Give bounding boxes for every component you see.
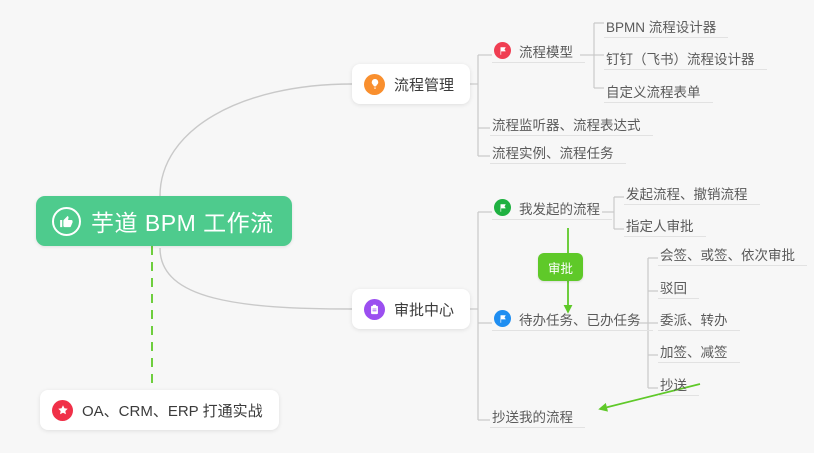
thumbs-up-icon	[52, 207, 81, 236]
node-cc[interactable]: 抄送	[658, 366, 699, 396]
root-node[interactable]: 芋道 BPM 工作流	[36, 196, 292, 246]
node-dingtalk-feishu-designer[interactable]: 钉钉（飞书）流程设计器	[604, 40, 767, 70]
edge-root-to-approval-center	[160, 248, 352, 309]
root-label: 芋道 BPM 工作流	[91, 204, 274, 238]
flag-icon	[494, 42, 511, 59]
node-my-started-process[interactable]: 我发起的流程	[492, 190, 612, 220]
mindmap-canvas: 芋道 BPM 工作流 OA、CRM、ERP 打通实战 流程管理 流程模型	[0, 0, 814, 453]
node-process-instance-task[interactable]: 流程实例、流程任务	[490, 134, 626, 164]
node-assignee-approval-label: 指定人审批	[626, 220, 694, 234]
node-assignee-approval[interactable]: 指定人审批	[624, 207, 706, 237]
branch-process-management-label: 流程管理	[394, 74, 454, 95]
node-custom-process-form[interactable]: 自定义流程表单	[604, 73, 713, 103]
node-reject[interactable]: 驳回	[658, 269, 699, 299]
node-process-model[interactable]: 流程模型	[492, 33, 585, 63]
flag-icon	[494, 310, 511, 327]
node-process-model-label: 流程模型	[519, 46, 573, 60]
node-start-cancel-process-label: 发起流程、撤销流程	[626, 188, 748, 202]
node-todo-done-task[interactable]: 待办任务、已办任务	[492, 301, 653, 331]
node-bpmn-designer-label: BPMN 流程设计器	[606, 21, 716, 35]
node-cc-label: 抄送	[660, 379, 687, 393]
edge-root-to-process-management	[160, 84, 352, 196]
node-todo-done-task-label: 待办任务、已办任务	[519, 314, 641, 328]
approval-badge-label: 审批	[548, 258, 573, 277]
note-node[interactable]: OA、CRM、ERP 打通实战	[40, 390, 279, 430]
star-icon	[52, 400, 73, 421]
branch-approval-center-label: 审批中心	[394, 299, 454, 320]
node-delegate-transfer-label: 委派、转办	[660, 314, 728, 328]
node-delegate-transfer[interactable]: 委派、转办	[658, 301, 740, 331]
node-dingtalk-feishu-designer-label: 钉钉（飞书）流程设计器	[606, 53, 755, 67]
node-cc-to-me-process-label: 抄送我的流程	[492, 411, 573, 425]
branch-process-management[interactable]: 流程管理	[352, 64, 470, 104]
lightbulb-icon	[364, 74, 385, 95]
node-countersign[interactable]: 会签、或签、依次审批	[658, 236, 807, 266]
node-process-listener-expression[interactable]: 流程监听器、流程表达式	[490, 106, 653, 136]
node-add-remove-sign[interactable]: 加签、减签	[658, 333, 740, 363]
branch-approval-center[interactable]: 审批中心	[352, 289, 470, 329]
node-process-listener-expression-label: 流程监听器、流程表达式	[492, 119, 641, 133]
flag-icon	[494, 199, 511, 216]
node-process-instance-task-label: 流程实例、流程任务	[492, 147, 614, 161]
node-countersign-label: 会签、或签、依次审批	[660, 249, 795, 263]
node-reject-label: 驳回	[660, 282, 687, 296]
approval-badge: 审批	[538, 253, 583, 281]
node-bpmn-designer[interactable]: BPMN 流程设计器	[604, 8, 728, 38]
node-start-cancel-process[interactable]: 发起流程、撤销流程	[624, 175, 760, 205]
node-cc-to-me-process[interactable]: 抄送我的流程	[490, 398, 585, 428]
node-custom-process-form-label: 自定义流程表单	[606, 86, 701, 100]
node-my-started-process-label: 我发起的流程	[519, 203, 600, 217]
note-label: OA、CRM、ERP 打通实战	[82, 400, 263, 421]
node-add-remove-sign-label: 加签、减签	[660, 346, 728, 360]
clipboard-icon	[364, 299, 385, 320]
